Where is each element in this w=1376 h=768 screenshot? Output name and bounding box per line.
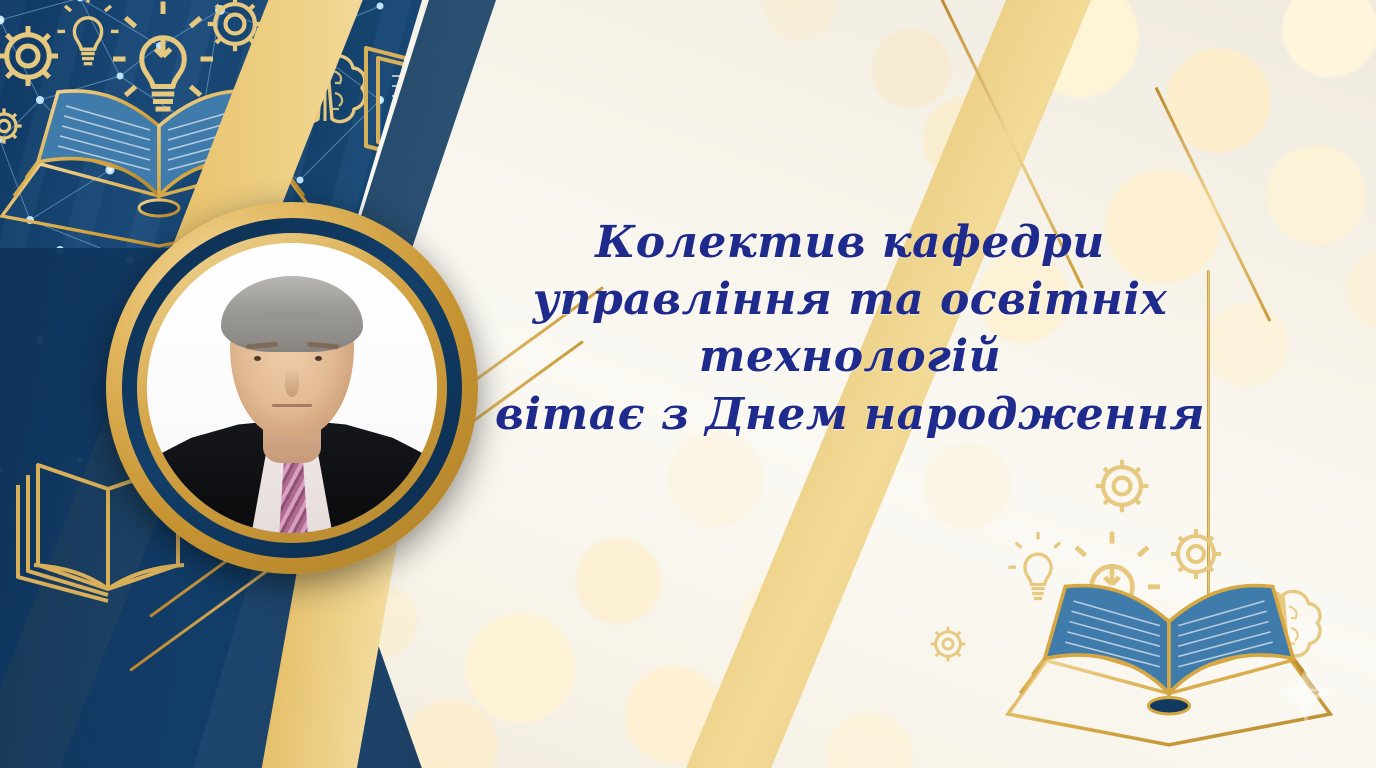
greeting-line-1: Колектив кафедри — [470, 214, 1230, 271]
greeting-text-block: Колектив кафедри управління та освітніх … — [470, 214, 1230, 443]
portrait-nose — [285, 368, 300, 397]
avatar — [106, 202, 478, 574]
portrait-photo — [147, 243, 437, 533]
greeting-card: Колектив кафедри управління та освітніх … — [0, 0, 1376, 768]
portrait-mouth — [272, 404, 313, 407]
star-watermark-icon — [1278, 662, 1334, 728]
greeting-line-2: управління та освітніх технологій — [470, 271, 1230, 385]
greeting-line-3: вітає з Днем народження — [470, 386, 1230, 443]
